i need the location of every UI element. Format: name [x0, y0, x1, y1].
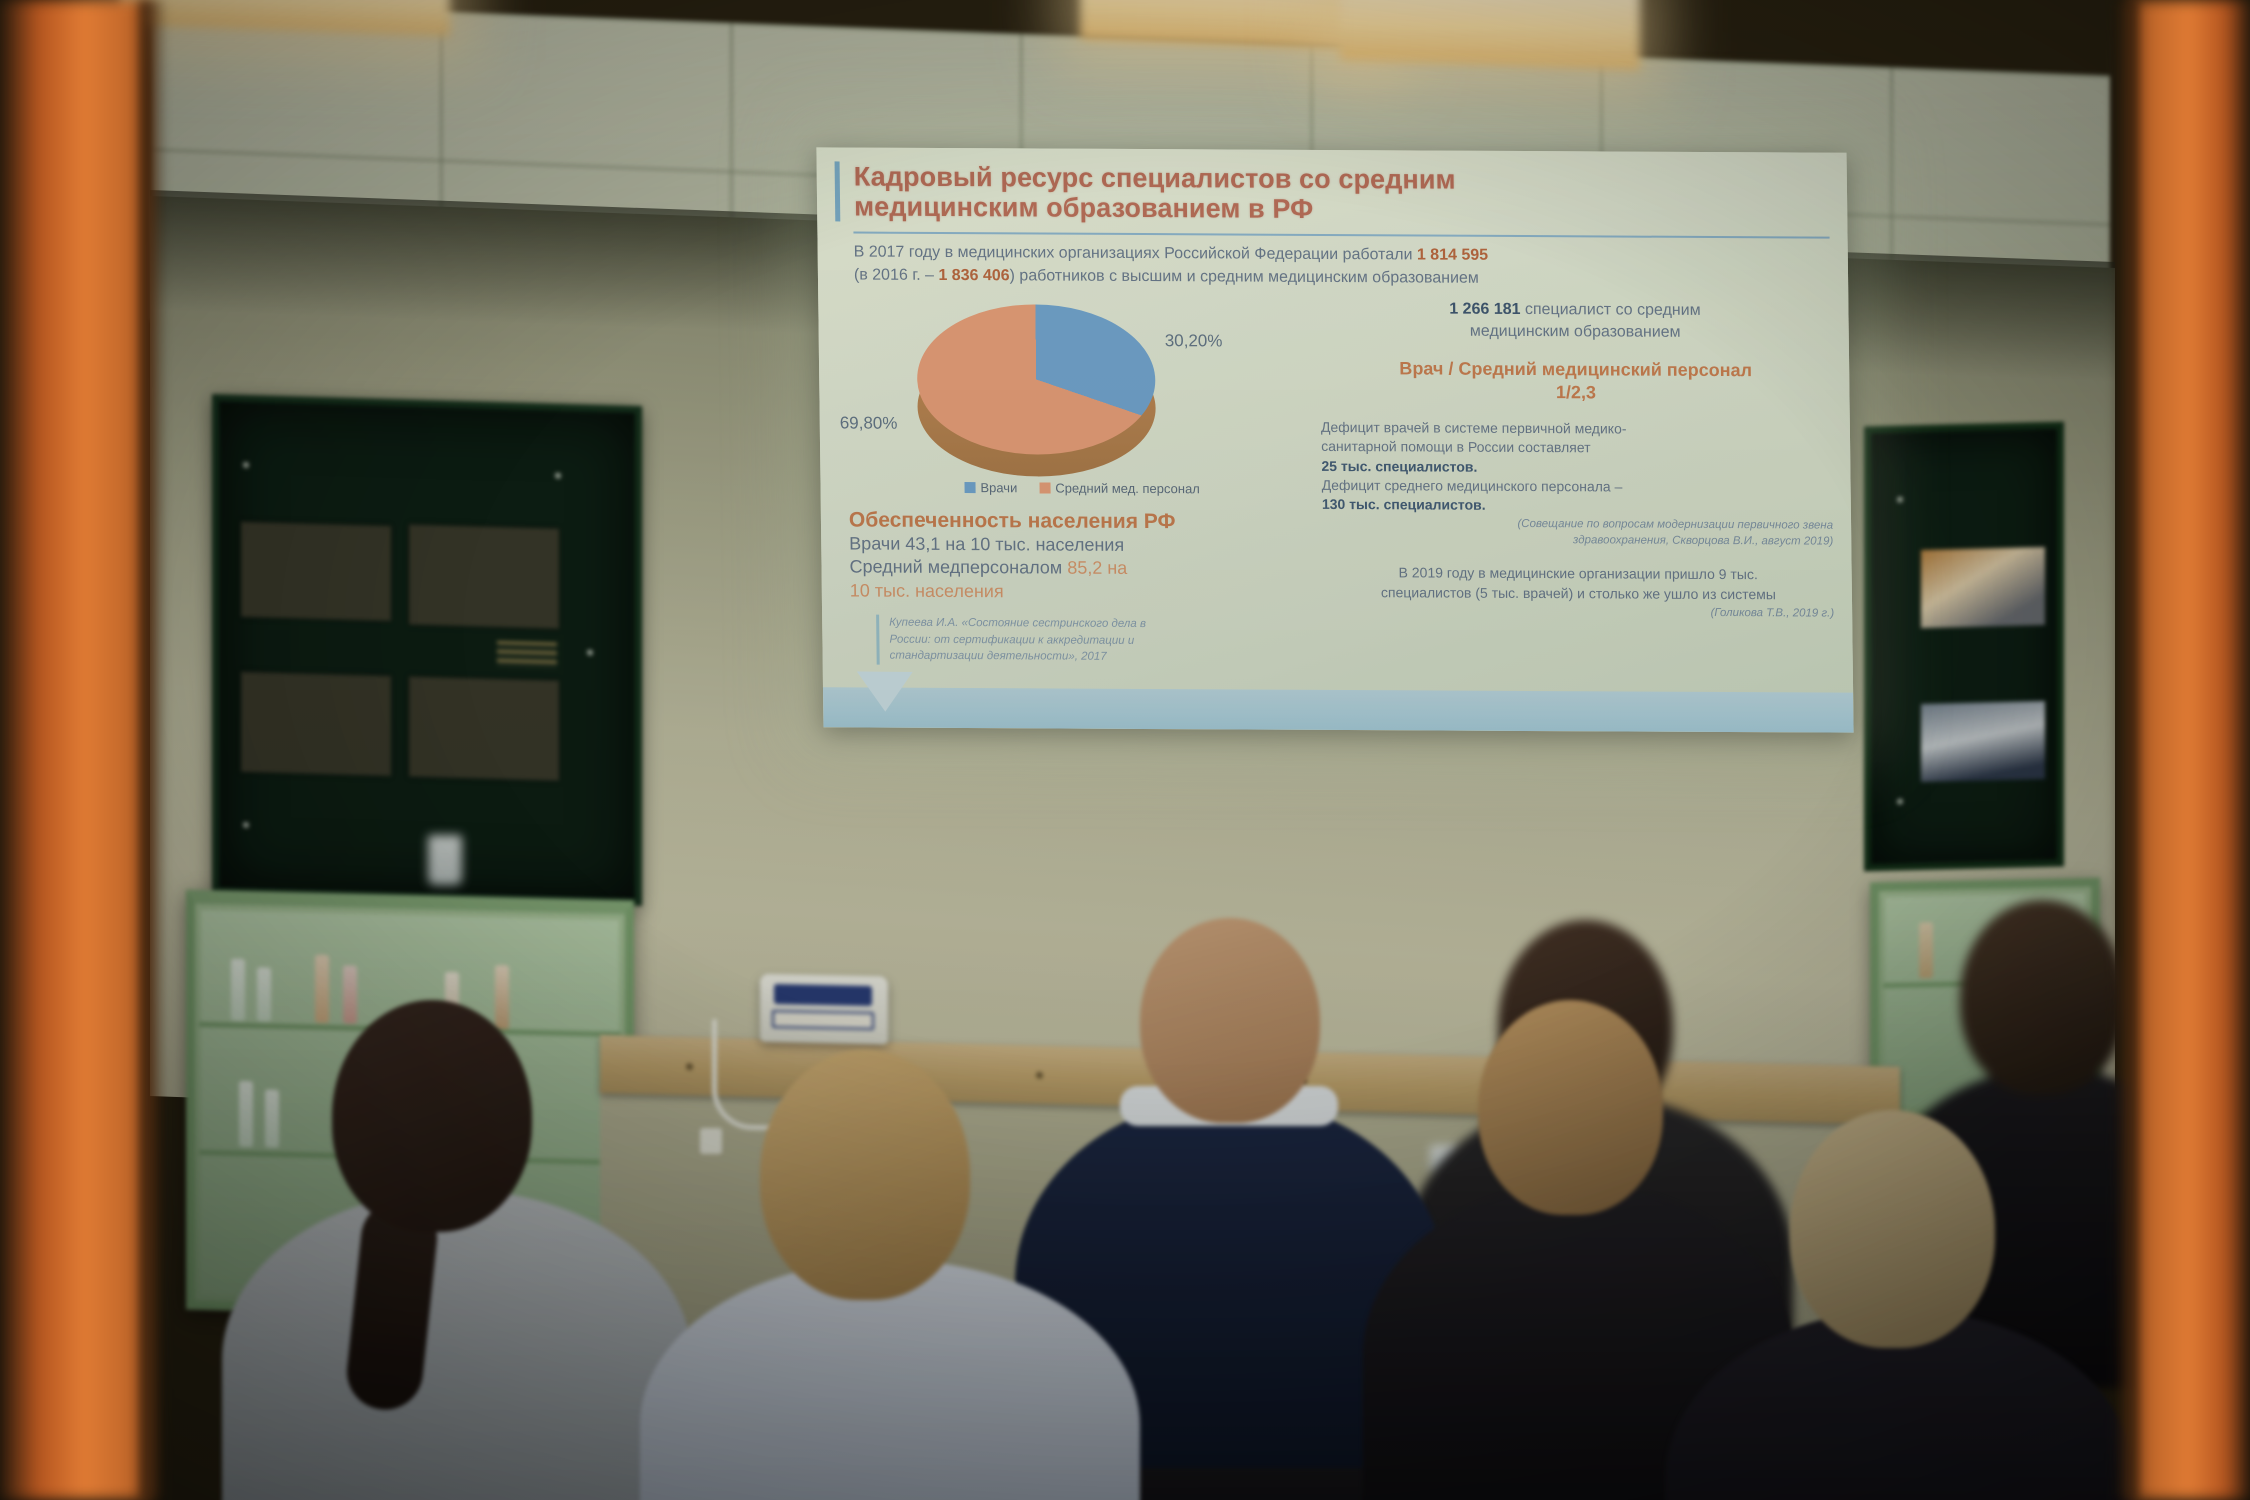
board-caption-strip — [497, 641, 557, 669]
provision-line-1: Врачи 43,1 на 10 тыс. населения — [849, 532, 1316, 558]
specialists-count: 1 266 181 специалист со средним медицинс… — [1319, 298, 1830, 344]
person-head — [760, 1050, 970, 1300]
slide-title-line-2: медицинским образованием в РФ — [854, 192, 1830, 227]
specialists-count-value: 1 266 181 — [1449, 301, 1520, 318]
paper-cup — [428, 835, 462, 885]
person-head — [1478, 1000, 1663, 1215]
deficit-value-2-text: 130 тыс. специалистов. — [1322, 496, 1486, 513]
pie-chart: 30,20% 69,80% — [846, 295, 1315, 487]
doorway-shadow-right — [2110, 0, 2138, 1500]
doorway-frame-left — [0, 0, 152, 1500]
arrivals-block: В 2019 году в медицинские организации пр… — [1323, 563, 1834, 604]
slide-title: Кадровый ресурс специалистов со средним … — [835, 161, 1830, 227]
deficit-value-1: 25 тыс. специалистов. — [1321, 456, 1832, 478]
right-citation-1-line-2: здравоохранения, Скворцова В.И., август … — [1322, 532, 1833, 550]
ratio-block: Врач / Средний медицинский персонал 1/2,… — [1320, 357, 1832, 406]
deficit-line-2: санитарной помощи в России составляет — [1321, 437, 1832, 459]
ratio-value: 1/2,3 — [1320, 380, 1831, 406]
left-bulletin-board — [212, 394, 642, 906]
person-head — [1790, 1110, 1995, 1348]
right-citation-1: (Совещание по вопросам модернизации перв… — [1322, 516, 1833, 550]
board-photo — [1921, 701, 2045, 782]
slide-right-column: 1 266 181 специалист со средним медицинс… — [1313, 298, 1834, 670]
board-photo — [409, 524, 559, 628]
left-citation-line-3: стандартизации деятельности», 2017 — [890, 648, 1318, 667]
intro-part-2: (в 2016 г. – — [854, 267, 939, 284]
pie-label-nurses: 69,80% — [840, 413, 898, 433]
board-pin — [555, 473, 561, 479]
projection-screen: Кадровый ресурс специалистов со средним … — [816, 147, 1853, 732]
power-plug — [700, 1128, 722, 1154]
deficit-value-2: 130 тыс. специалистов. — [1322, 495, 1833, 517]
ceiling-light — [1340, 0, 1640, 70]
deficit-line-1: Дефицит врачей в системе первичной медик… — [1321, 418, 1832, 440]
deficit-line-3: Дефицит среднего медицинского персонала … — [1322, 476, 1833, 498]
doorway-shadow-left — [140, 0, 168, 1500]
device-panel — [774, 984, 872, 1006]
intro-part-1: В 2017 году в медицинских организациях Р… — [854, 244, 1417, 264]
provision-line-2: Средний медперсоналом 85,2 на — [849, 556, 1316, 582]
right-bulletin-board — [1864, 422, 2064, 872]
board-pin — [243, 822, 249, 828]
provision-line-2a: Средний медперсоналом — [849, 557, 1067, 578]
cabinet-bottle — [231, 959, 245, 1021]
cabinet-bottle — [343, 965, 357, 1023]
board-pin — [587, 649, 593, 655]
figure-2016: 1 836 406 — [938, 267, 1009, 284]
cabinet-bottle — [315, 955, 329, 1023]
figure-2017: 1 814 595 — [1417, 247, 1488, 264]
provision-line-3: 10 тыс. населения — [850, 579, 1317, 605]
room-background: Кадровый ресурс специалистов со средним … — [0, 0, 2250, 1500]
slide-left-column: 30,20% 69,80% Врачи Средний мед. персона… — [836, 295, 1318, 667]
rail-nail — [1036, 1072, 1043, 1079]
specialists-count-text: специалист со средним — [1520, 301, 1700, 319]
cabinet-bottle — [1919, 922, 1933, 978]
slide-columns: 30,20% 69,80% Врачи Средний мед. персона… — [836, 295, 1835, 669]
presentation-slide: Кадровый ресурс специалистов со средним … — [816, 147, 1853, 732]
cabinet-bottle — [257, 967, 271, 1021]
person-head — [1140, 918, 1320, 1123]
board-photo — [241, 522, 391, 621]
doorway-frame-right — [2128, 0, 2250, 1500]
board-photo — [241, 672, 391, 776]
cabinet-bottle — [265, 1089, 279, 1147]
right-citation-2: (Голикова Т.В., 2019 г.) — [1323, 604, 1834, 622]
deficit-value-1-text: 25 тыс. специалистов. — [1321, 457, 1477, 474]
board-pin — [1897, 798, 1903, 804]
left-citation: Купеева И.А. «Состояние сестринского дел… — [876, 615, 1318, 667]
person-head — [1960, 900, 2125, 1095]
provision-line-2b: 85,2 на — [1067, 558, 1127, 578]
cabinet-bottle — [495, 965, 509, 1029]
slide-intro-paragraph: В 2017 году в медицинских организациях Р… — [854, 242, 1825, 293]
board-photo — [409, 676, 559, 780]
arrivals-line-1: В 2019 году в медицинские организации пр… — [1323, 563, 1834, 585]
title-divider — [853, 232, 1829, 239]
room-photo-scene: Кадровый ресурс специалистов со средним … — [0, 0, 2250, 1500]
rail-nail — [686, 1063, 693, 1070]
left-citation-line-1: Купеева И.А. «Состояние сестринского дел… — [889, 615, 1317, 634]
board-pin — [1897, 496, 1903, 502]
board-pin — [243, 462, 249, 468]
pie-label-doctors: 30,20% — [1165, 331, 1223, 351]
cabinet-bottle — [239, 1081, 253, 1147]
provision-heading: Обеспеченность населения РФ — [849, 508, 1316, 534]
ratio-label: Врач / Средний медицинский персонал — [1320, 357, 1831, 383]
slide-footer-band — [823, 687, 1854, 732]
board-photo — [1921, 547, 2045, 628]
person-head — [332, 1000, 532, 1232]
arrivals-line-2: специалистов (5 тыс. врачей) и столько ж… — [1323, 583, 1834, 605]
pie-3d-top — [916, 304, 1156, 455]
specialists-count-text2: медицинским образованием — [1470, 322, 1681, 340]
deficit-block: Дефицит врачей в системе первичной медик… — [1321, 418, 1833, 517]
pie-chart-graphic — [916, 304, 1156, 465]
intro-part-3: ) работников с высшим и средним медицинс… — [1009, 268, 1478, 287]
